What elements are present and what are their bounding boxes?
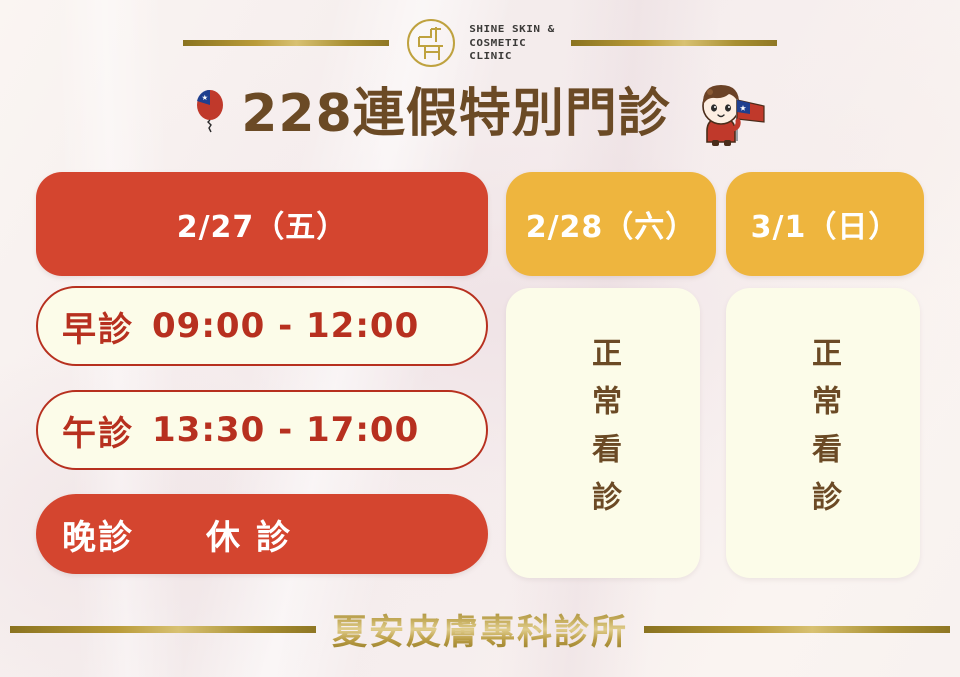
footer-rule-right [644,626,950,633]
schedule-session-label: 晚診 [62,510,134,559]
schedule-session-hours: 休診 [206,510,306,559]
clinic-brand-line-2: COSMETIC [469,37,554,49]
shine-skin-seal-logo-icon [405,17,457,69]
clinic-brand-line-3: CLINIC [469,51,554,63]
date-pill-row: 2/27（五） 2/28（六） 3/1（日） [36,172,924,276]
clinic-brand-line-1: SHINE SKIN & [469,23,554,35]
status-card-text: 正常看診 [588,337,618,529]
date-pill-0228[interactable]: 2/28（六） [506,172,716,276]
child-with-taiwan-flag-icon [685,79,767,149]
date-pill-0301[interactable]: 3/1（日） [726,172,924,276]
schedule-row-afternoon: 午診 13:30 - 17:00 [36,390,488,470]
date-pill-label: 2/27（五） [177,202,348,246]
date-pill-label: 2/28（六） [526,202,697,246]
poster-footer: 夏安皮膚專科診所 [0,603,960,655]
schedule-session-label: 早診 [62,302,134,351]
schedule-list: 早診 09:00 - 12:00 午診 13:30 - 17:00 晚診 休診 [36,286,488,598]
poster-header: SHINE SKIN & COSMETIC CLINIC [0,12,960,74]
status-card-0228: 正常看診 [506,288,700,578]
schedule-session-hours: 13:30 - 17:00 [152,410,419,450]
header-rule-left [183,40,389,46]
clinic-brand: SHINE SKIN & COSMETIC CLINIC [405,17,554,69]
schedule-row-morning: 早診 09:00 - 12:00 [36,286,488,366]
schedule-row-evening: 晚診 休診 [36,494,488,574]
page-title: 228連假特別門診 [241,88,671,140]
status-card-text: 正常看診 [808,337,838,529]
clinic-name: 夏安皮膚專科診所 [332,604,628,655]
taiwan-flag-balloon-icon [193,88,227,140]
poster-canvas: SHINE SKIN & COSMETIC CLINIC 228連假特別門診 [0,0,960,677]
footer-rule-left [10,626,316,633]
status-card-0301: 正常看診 [726,288,920,578]
poster-title-row: 228連假特別門診 [0,74,960,154]
schedule-session-hours: 09:00 - 12:00 [152,306,419,346]
date-pill-label: 3/1（日） [751,202,900,246]
schedule-session-label: 午診 [62,406,134,455]
clinic-brand-lines: SHINE SKIN & COSMETIC CLINIC [469,23,554,64]
header-rule-right [571,40,777,46]
date-pill-0227[interactable]: 2/27（五） [36,172,488,276]
